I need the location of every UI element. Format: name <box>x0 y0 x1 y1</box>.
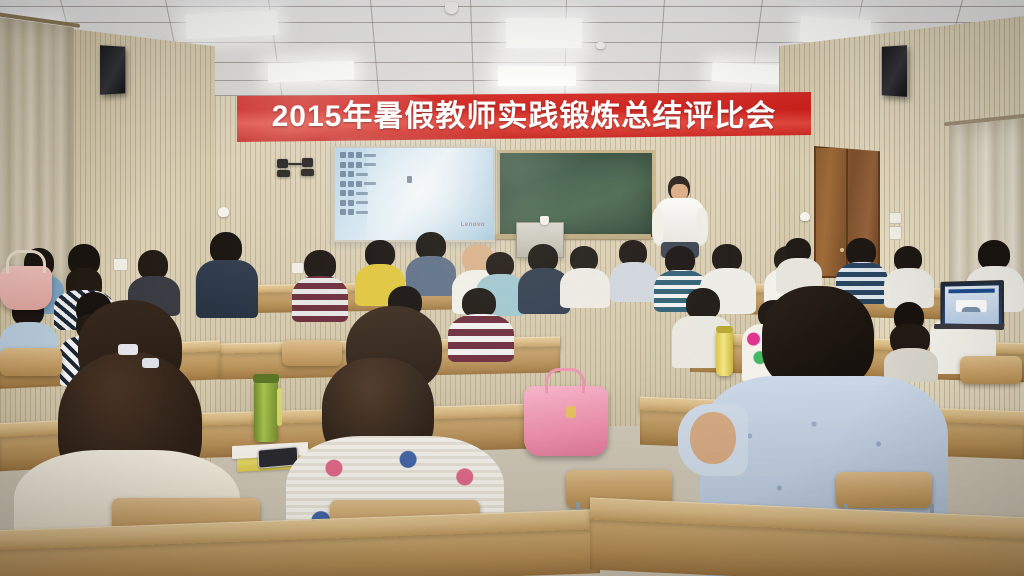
wall-bracket-icon <box>301 169 314 176</box>
chair-back[interactable] <box>0 348 62 376</box>
blush-handbag-handle <box>6 250 46 273</box>
audience-person <box>404 232 456 294</box>
bracket-cable <box>288 163 302 165</box>
motion-sensor-icon <box>800 212 810 221</box>
hair-clip-icon <box>142 358 159 368</box>
light-switch-plate[interactable] <box>889 212 902 224</box>
event-banner: 2015年暑假教师实践锻炼总结评比会 <box>237 92 811 142</box>
wall-speaker-right <box>882 45 907 97</box>
wall-bracket-icon <box>277 170 290 177</box>
ceiling-light-panel <box>498 66 576 86</box>
forearm <box>690 412 736 464</box>
desktop-icons <box>340 152 376 215</box>
hair-clip-icon <box>118 344 138 355</box>
head <box>762 286 874 390</box>
chair-back[interactable] <box>836 472 932 508</box>
smoke-detector-icon <box>596 42 605 49</box>
audience-person <box>560 246 608 306</box>
presenter-arm <box>652 208 664 244</box>
projection-screen: Lenovo <box>333 146 495 242</box>
banner-title: 2015年暑假教师实践锻炼总结评比会 <box>272 102 777 132</box>
bottle-strap <box>277 388 282 426</box>
wall-speaker-left <box>100 45 125 95</box>
presenter-arm <box>696 208 708 244</box>
laptop-screen-content <box>945 285 999 324</box>
bottle-cap <box>253 374 279 383</box>
audience-person <box>610 240 656 298</box>
handbag-clasp-icon <box>566 406 576 418</box>
ceiling-light-panel <box>268 61 355 83</box>
standing-presenter <box>652 176 708 254</box>
green-water-bottle[interactable] <box>254 380 278 442</box>
classroom-photo: 2015年暑假教师实践锻炼总结评比会 Lenovo <box>0 0 1024 576</box>
ceiling-light-panel <box>185 10 278 40</box>
audience-person <box>776 238 820 292</box>
smoke-detector-icon <box>445 2 458 14</box>
light-switch-plate[interactable] <box>889 226 902 240</box>
wall-bracket-icon <box>302 158 313 167</box>
ceiling-light-panel <box>712 62 787 85</box>
lenovo-watermark: Lenovo <box>461 222 485 228</box>
chair-back[interactable] <box>282 340 342 366</box>
white-cup <box>540 216 549 225</box>
chair-back[interactable] <box>960 356 1022 384</box>
pink-handbag-handle <box>545 368 585 393</box>
pink-handbag[interactable] <box>524 386 608 456</box>
wall-bracket-icon <box>277 159 288 168</box>
ceiling-light-panel <box>506 18 582 48</box>
motion-sensor-icon <box>218 207 229 217</box>
